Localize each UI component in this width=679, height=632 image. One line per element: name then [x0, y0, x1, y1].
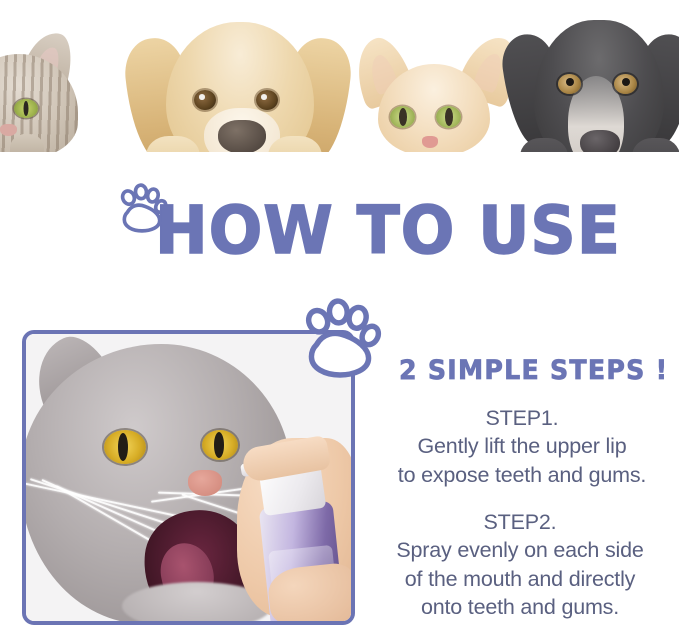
- orange-cat-eye-right: [436, 106, 461, 128]
- how-to-use-infographic: HOW TO USE: [0, 0, 679, 632]
- step-1-block: STEP1. Gently lift the upper lip to expo…: [372, 404, 672, 489]
- step-2-line-1: Spray evenly on each side: [366, 536, 674, 564]
- step-1-line-1: Gently lift the upper lip: [372, 432, 672, 460]
- tabby-cat-image: [0, 28, 102, 158]
- golden-retriever-eye-right: [256, 90, 278, 110]
- page-title: HOW TO USE: [155, 198, 579, 264]
- tabby-cat-nose: [0, 124, 17, 136]
- steps-heading: 2 SIMPLE STEPS !: [399, 355, 668, 386]
- photo-cat-nose: [188, 470, 222, 496]
- step-2-block: STEP2. Spray evenly on each side of the …: [366, 508, 674, 622]
- golden-retriever-nose: [218, 120, 266, 154]
- photo-cat-eye-right: [202, 430, 238, 460]
- orange-cat-eye-left: [390, 106, 415, 128]
- tabby-cat-eye-right: [14, 99, 38, 118]
- step-2-label: STEP2.: [366, 508, 674, 536]
- orange-cat-image: [352, 28, 518, 156]
- photo-cat-eye-left: [104, 430, 146, 464]
- banner-shelf-edge: [0, 152, 679, 178]
- step-1-label: STEP1.: [372, 404, 672, 432]
- golden-retriever-eye-left: [194, 90, 216, 110]
- paw-print-icon: [298, 296, 382, 380]
- pet-photo-banner: [0, 0, 679, 178]
- step-2-line-2: of the mouth and directly: [366, 565, 674, 593]
- black-collie-eye-right: [614, 74, 637, 94]
- step-2-line-3: onto teeth and gums.: [366, 593, 674, 621]
- step-1-line-2: to expose teeth and gums.: [372, 461, 672, 489]
- black-collie-eye-left: [558, 74, 581, 94]
- orange-cat-nose: [422, 136, 438, 148]
